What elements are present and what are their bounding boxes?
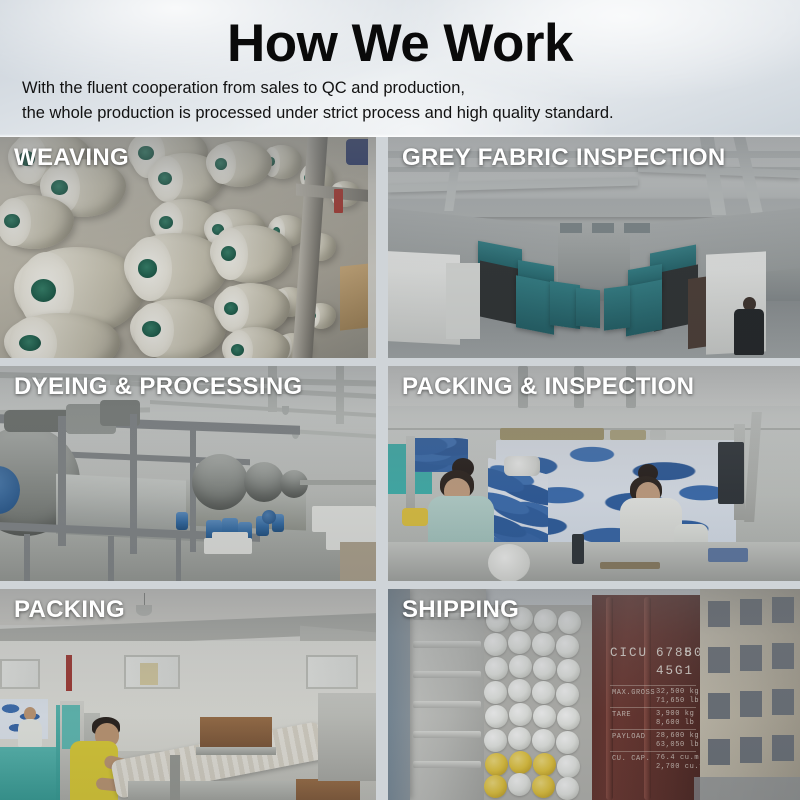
plate-lb-1: 8,600 lb — [656, 719, 694, 728]
plate-label-0: MAX.GROSS — [612, 689, 655, 698]
cargo-bay — [484, 605, 592, 800]
panel-packing-inspection[interactable]: PACKING & INSPECTION — [388, 366, 800, 581]
panel-caption: PACKING & INSPECTION — [402, 372, 694, 402]
right-wall — [368, 137, 376, 358]
overhead-sign — [560, 223, 582, 233]
side-machine — [0, 747, 56, 800]
panel-caption: PACKING — [14, 595, 125, 625]
locking-bar — [606, 597, 613, 800]
panel-caption: SHIPPING — [402, 595, 519, 625]
container-type-code: 45G1 — [656, 663, 694, 679]
plate-kg-0: 32,500 kg — [656, 688, 699, 697]
yellow-item — [402, 508, 428, 526]
plate-label-2: PAYLOAD — [612, 733, 646, 742]
container-check-digit: 5 — [684, 645, 694, 661]
panel-shipping[interactable]: CICU 678802 5 45G1 MAX.GROSS 32,500 kg 7… — [388, 589, 800, 800]
how-we-work-page: How We Work With the fluent cooperation … — [0, 0, 800, 800]
panel-caption: GREY FABRIC INSPECTION — [402, 143, 726, 173]
plate-kg-3: 76.4 cu.m — [656, 754, 699, 763]
panel-caption: WEAVING — [14, 143, 129, 173]
process-photo-grid: WEAVING — [0, 137, 800, 800]
wooden-crate — [200, 717, 272, 749]
plate-lb-0: 71,650 lb — [656, 697, 699, 706]
page-header: How We Work With the fluent cooperation … — [0, 0, 800, 137]
panel-packing[interactable]: PACKING — [0, 589, 376, 800]
plate-kg-2: 28,600 kg — [656, 732, 699, 741]
packer-body — [70, 741, 118, 800]
control-panel[interactable] — [500, 428, 604, 440]
container-owner-code: CICU — [610, 646, 648, 660]
subtitle-line-1: With the fluent cooperation from sales t… — [22, 78, 465, 98]
wall-stripe — [66, 655, 72, 691]
panel-dyeing-processing[interactable]: DYEING & PROCESSING — [0, 366, 376, 581]
panel-caption: DYEING & PROCESSING — [14, 372, 302, 402]
panel-grey-fabric-inspection[interactable]: GREY FABRIC INSPECTION — [388, 137, 800, 358]
creel-marker — [334, 189, 343, 213]
background-building — [700, 589, 800, 800]
plate-label-1: TARE — [612, 711, 631, 720]
packing-machine — [128, 781, 324, 800]
panel-weaving[interactable]: WEAVING — [0, 137, 376, 358]
railing — [694, 777, 800, 800]
pendant-lamp — [136, 605, 152, 616]
cardboard — [340, 263, 370, 330]
worker-body — [734, 309, 764, 355]
fabric-roll — [488, 544, 530, 581]
hanging-cloth — [718, 442, 744, 504]
page-title: How We Work — [0, 14, 800, 74]
plate-lb-2: 63,050 lb — [656, 741, 699, 750]
subtitle-line-2: the whole production is processed under … — [22, 103, 614, 123]
plate-label-3: CU. CAP. — [612, 755, 650, 764]
container-id: CICU — [610, 645, 648, 661]
plate-kg-1: 3,900 kg — [656, 710, 694, 719]
